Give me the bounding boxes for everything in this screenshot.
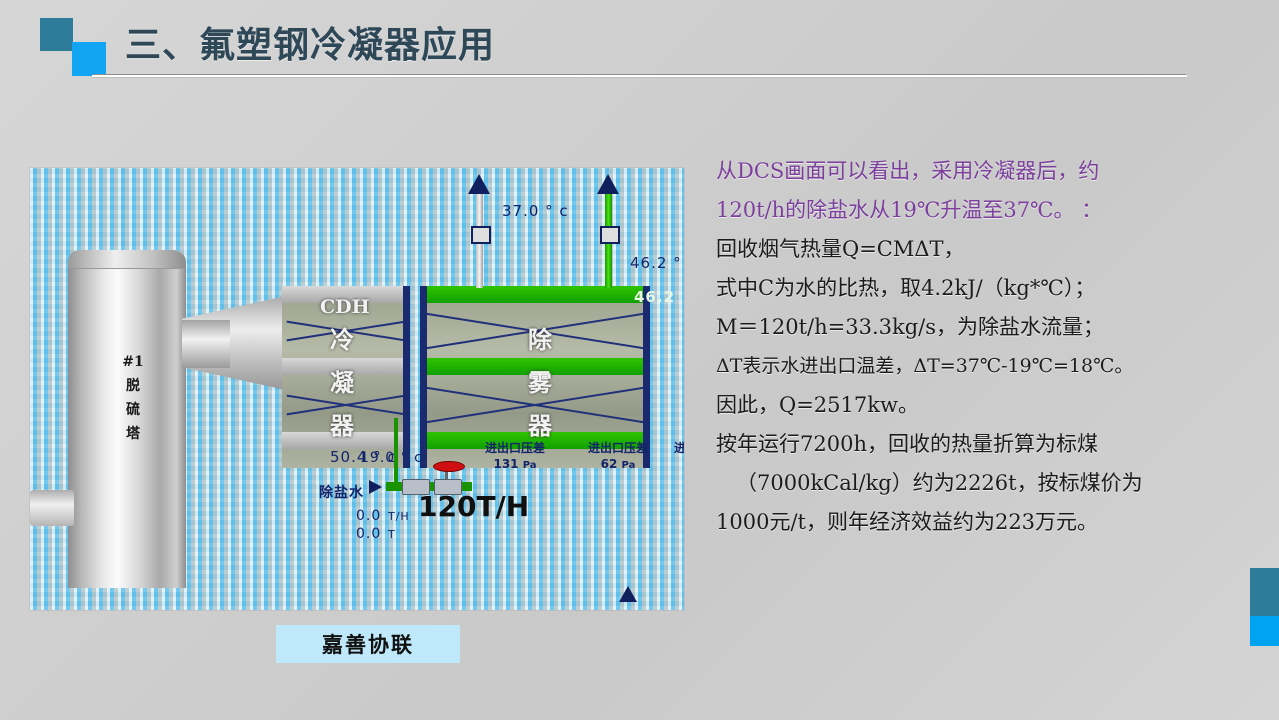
condenser-char-2: 凝 bbox=[330, 363, 354, 398]
slide-root: 三、氟塑钢冷凝器应用 #1 脱 硫 塔 bbox=[0, 0, 1279, 720]
dp-label-3: 进 bbox=[670, 440, 684, 456]
flow-rate-unit: T/H bbox=[388, 510, 410, 523]
demister-char-1: 除 bbox=[528, 320, 552, 355]
temp-flue-inline-label: 46.2 bbox=[634, 288, 675, 306]
header-divider bbox=[92, 74, 1187, 78]
dp-group-1: 进出口压差 131 Pa bbox=[460, 440, 570, 474]
tower-name-1: 脱 bbox=[112, 374, 154, 398]
cdh-tag: CDH bbox=[320, 296, 370, 318]
body-line-3: 式中C为水的比热，取4.2kJ/（kg*℃）； bbox=[716, 269, 1236, 308]
body-line-2: 回收烟气热量Q=CMΔT， bbox=[716, 230, 1236, 269]
dp-value-2: 62 bbox=[601, 457, 618, 471]
body-line-0: 从DCS画面可以看出，采用冷凝器后，约 bbox=[716, 152, 1236, 191]
page-title: 三、氟塑钢冷凝器应用 bbox=[125, 16, 495, 68]
tower-side-duct bbox=[30, 490, 74, 526]
demister-outlet-arrow-icon bbox=[597, 174, 619, 194]
condenser-char-1: 冷 bbox=[330, 320, 354, 355]
dcs-screenshot-image: #1 脱 硫 塔 CDH 冷 凝 器 bbox=[30, 168, 684, 610]
slide-header: 三、氟塑钢冷凝器应用 bbox=[0, 0, 1279, 90]
dp-group-2: 进出口压差 62 Pa bbox=[563, 440, 673, 474]
condenser-char-3: 器 bbox=[330, 406, 354, 441]
decor-square-dark-icon bbox=[40, 18, 73, 51]
body-line-8: （7000kCal/kg）约为2226t，按标煤价为 bbox=[716, 464, 1236, 503]
dp-value-row-1: 131 Pa bbox=[460, 456, 570, 474]
water-flow-arrow-icon bbox=[369, 480, 382, 494]
body-text-column: 从DCS画面可以看出，采用冷凝器后，约 120t/h的除盐水从19℃升温至37℃… bbox=[716, 152, 1236, 542]
image-caption-text: 嘉善协联 bbox=[322, 629, 414, 659]
body-line-4: M＝120t/h=33.3kg/s，为除盐水流量； bbox=[716, 308, 1236, 347]
body-line-5: ΔT表示水进出口温差，ΔT=37℃-19℃=18℃。 bbox=[716, 347, 1236, 386]
demister-char-2: 雾 bbox=[528, 363, 552, 398]
accent-bar-dark bbox=[1250, 568, 1279, 616]
dp-label-2: 进出口压差 bbox=[563, 440, 673, 456]
dp-label-1: 进出口压差 bbox=[460, 440, 570, 456]
desulfurization-tower-top bbox=[68, 250, 186, 269]
flow-rate-value: 0.0 bbox=[356, 508, 381, 524]
accent-bar-blue bbox=[1250, 616, 1279, 646]
body-line-1: 120t/h的除盐水从19℃升温至37℃。 ： bbox=[716, 191, 1236, 230]
water-riser-line bbox=[394, 418, 398, 484]
condenser-right-edge bbox=[403, 286, 410, 468]
duct-connector bbox=[182, 320, 230, 368]
dcs-diagram: #1 脱 硫 塔 CDH 冷 凝 器 bbox=[30, 168, 684, 610]
image-caption: 嘉善协联 bbox=[276, 625, 460, 663]
body-line-7: 按年运行7200h，回收的热量折算为标煤 bbox=[716, 425, 1236, 464]
demister-left-edge bbox=[420, 286, 427, 468]
condenser-outlet-gauge-icon bbox=[471, 226, 491, 244]
temp-outlet-top-label: 37.0 ° c bbox=[502, 202, 569, 220]
dp-unit-1: Pa bbox=[523, 460, 537, 471]
dp-unit-2: Pa bbox=[622, 460, 636, 471]
body-line-9: 1000元/t，则年经济效益约为223万元。 bbox=[716, 503, 1236, 542]
tower-id: #1 bbox=[112, 350, 154, 374]
dp-value-row-2: 62 Pa bbox=[563, 456, 673, 474]
temp-flue-top-label: 46.2 ° c bbox=[630, 254, 684, 272]
water-inlet-label: 除盐水 bbox=[319, 482, 364, 502]
tower-name-3: 塔 bbox=[112, 422, 154, 446]
body-line-6: 因此，Q=2517kw。 bbox=[716, 386, 1236, 425]
demister-band-top bbox=[420, 286, 650, 303]
temp-water-inlet-label: 19.0 ° c bbox=[360, 450, 423, 466]
tower-label: #1 脱 硫 塔 bbox=[112, 350, 154, 446]
demister-outlet-gauge-icon bbox=[600, 226, 620, 244]
dp-value-1: 131 bbox=[493, 457, 518, 471]
demister-char-3: 器 bbox=[528, 406, 552, 441]
bottom-flow-arrow-icon bbox=[619, 586, 637, 602]
flow-big-label: 120T/H bbox=[418, 490, 529, 523]
decor-square-blue-icon bbox=[72, 42, 106, 76]
tower-name-2: 硫 bbox=[112, 398, 154, 422]
flow-total-unit: T bbox=[388, 528, 396, 541]
condenser-outlet-arrow-icon bbox=[468, 174, 490, 194]
flow-total-value: 0.0 bbox=[356, 526, 381, 542]
